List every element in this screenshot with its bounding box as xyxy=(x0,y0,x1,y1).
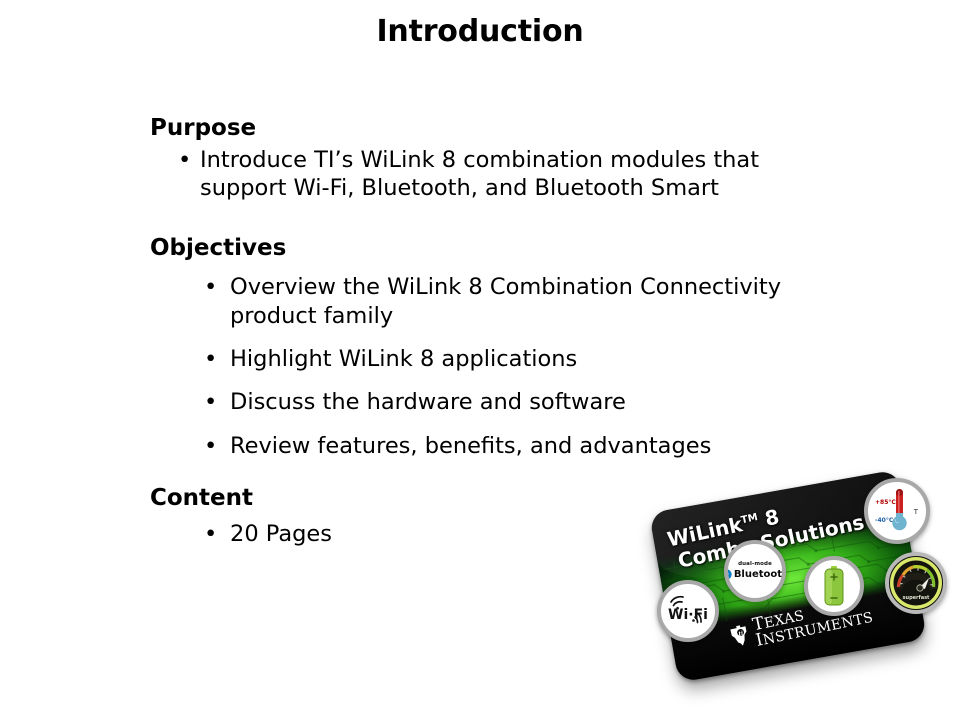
bullet-icon: • xyxy=(204,345,217,373)
bullet-text: Introduce TI’s WiLink 8 combination modu… xyxy=(200,147,759,201)
bullet-text: Review features, benefits, and advantage… xyxy=(230,433,711,459)
page-title: Introduction xyxy=(0,14,960,49)
bluetooth-sublabel: dual-mode xyxy=(724,562,786,568)
bullet-text: Discuss the hardware and software xyxy=(230,389,626,415)
bullet-text: 20 Pages xyxy=(230,521,332,547)
list-item: • Discuss the hardware and software xyxy=(150,388,850,416)
list-item: • Review features, benefits, and advanta… xyxy=(150,432,850,460)
battery-icon xyxy=(822,565,846,607)
badge-wifi: Wi·Fi xyxy=(657,580,719,642)
bullet-icon: • xyxy=(178,146,191,174)
badge-temperature: +85°C -40°C T xyxy=(864,478,930,544)
svg-text:ti: ti xyxy=(738,631,744,638)
bullet-icon: • xyxy=(204,432,217,460)
list-item: • Introduce TI’s WiLink 8 combination mo… xyxy=(150,146,850,203)
product-image-wilink8-combo: WiLinkTM 8 Combo Solutions ti TEXAS INST… xyxy=(652,468,960,720)
bullet-list-purpose: • Introduce TI’s WiLink 8 combination mo… xyxy=(150,146,850,203)
bullet-text: Overview the WiLink 8 Combination Connec… xyxy=(230,274,781,328)
bullet-icon: • xyxy=(204,273,217,301)
svg-text:Wi·Fi: Wi·Fi xyxy=(668,607,708,623)
bluetooth-label: Bluetooth xyxy=(734,570,786,580)
thermometer-icon xyxy=(868,482,926,540)
bullet-icon: • xyxy=(204,520,217,548)
bullet-text: Highlight WiLink 8 applications xyxy=(230,346,577,372)
texas-outline-icon: ti xyxy=(728,623,753,651)
trademark-icon: TM xyxy=(740,512,759,526)
bullet-icon: • xyxy=(204,388,217,416)
speedometer-icon: superfast xyxy=(889,556,943,610)
section-heading-objectives: Objectives xyxy=(150,236,850,262)
badge-performance: superfast xyxy=(885,552,947,614)
list-item: • Overview the WiLink 8 Combination Conn… xyxy=(150,273,850,330)
bullet-list-objectives: • Overview the WiLink 8 Combination Conn… xyxy=(150,273,850,460)
section-heading-purpose: Purpose xyxy=(150,116,850,142)
badge-bluetooth: dual-mode Bluetooth xyxy=(724,540,786,602)
section-purpose: Purpose • Introduce TI’s WiLink 8 combin… xyxy=(150,116,850,202)
bluetooth-icon xyxy=(724,569,732,580)
section-objectives: Objectives • Overview the WiLink 8 Combi… xyxy=(150,236,850,459)
badge-battery xyxy=(804,556,864,616)
wifi-icon: Wi·Fi xyxy=(663,589,713,633)
list-item: • Highlight WiLink 8 applications xyxy=(150,345,850,373)
svg-text:superfast: superfast xyxy=(903,595,930,601)
